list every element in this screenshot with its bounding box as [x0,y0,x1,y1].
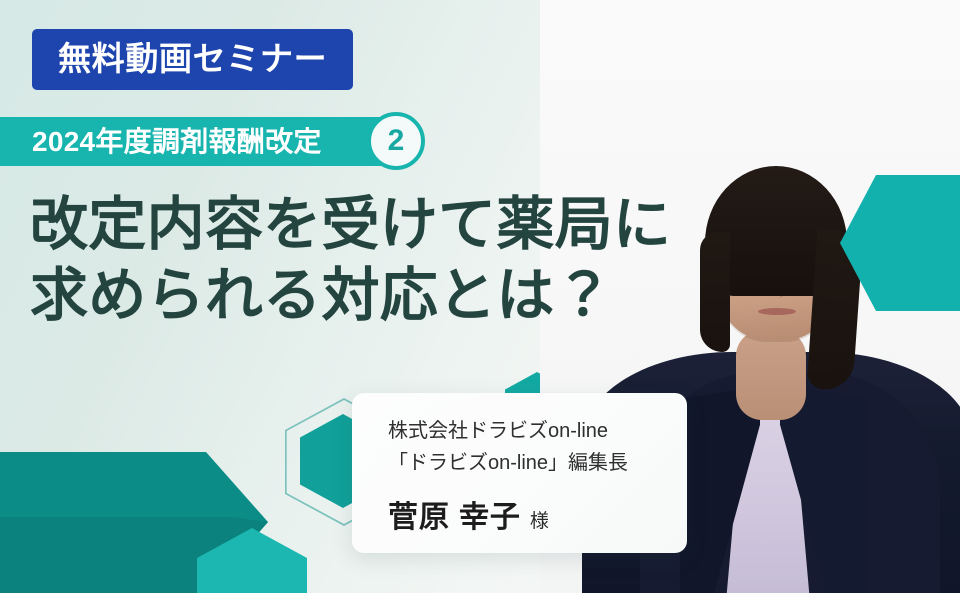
speaker-title: 「ドラビズon-line」編集長 [388,447,669,479]
speaker-honorific: 様 [530,511,549,532]
episode-number-badge: 2 [367,112,425,170]
series-band-label: 2024年度調剤報酬改定 [32,123,372,161]
speaker-name-row: 菅原 幸子様 [388,492,669,536]
seminar-banner: 無料動画セミナー 2024年度調剤報酬改定 2 改定内容を受けて薬局に 求められ… [0,0,960,593]
headline: 改定内容を受けて薬局に 求められる対応とは？ [30,190,750,332]
speaker-name: 菅原 幸子 [388,501,521,534]
headline-line-1: 改定内容を受けて薬局に [30,192,671,257]
speaker-company: 株式会社ドラビズon-line [388,415,669,447]
headline-line-2: 求められる対応とは？ [30,261,750,332]
free-seminar-badge: 無料動画セミナー [32,29,353,90]
speaker-info-card: 株式会社ドラビズon-line 「ドラビズon-line」編集長 菅原 幸子様 [352,393,687,553]
